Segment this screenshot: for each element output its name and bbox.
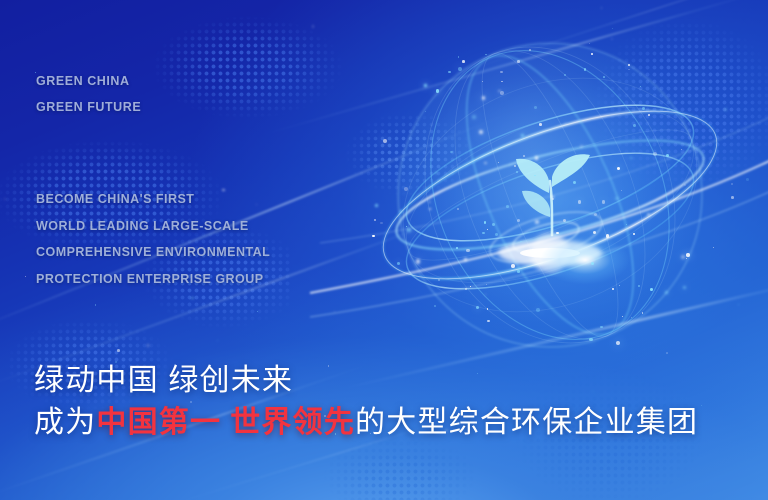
particle (612, 28, 613, 29)
particle (450, 88, 451, 89)
particle (482, 232, 485, 235)
particle (600, 326, 603, 329)
particle (621, 190, 622, 191)
particle (486, 284, 487, 285)
particle (628, 69, 630, 71)
particle (312, 25, 315, 28)
particle (630, 157, 632, 159)
particle (556, 232, 559, 235)
particle (476, 306, 479, 309)
particle (521, 134, 524, 137)
particle (117, 349, 120, 352)
particle (457, 208, 459, 210)
particle (244, 294, 245, 295)
particle (633, 233, 636, 236)
slogan-suffix: 的大型综合环保企业集团 (355, 406, 698, 439)
particle (466, 249, 470, 253)
particle (731, 183, 733, 185)
particle (479, 130, 483, 134)
particle (681, 149, 682, 150)
slogan-line: PROTECTION ENTERPRISE GROUP (36, 266, 270, 293)
particle (438, 279, 440, 281)
slogan-chinese: 绿动中国 绿创未来 成为中国第一世界领先的大型综合环保企业集团 (34, 362, 698, 442)
particle (665, 291, 668, 294)
slogan-line: BECOME CHINA'S FIRST (36, 186, 270, 213)
particle (589, 43, 590, 44)
particle (611, 38, 613, 40)
slogan-line: COMPREHENSIVE ENVIRONMENTAL (36, 239, 270, 266)
particle (666, 154, 669, 157)
particle (653, 152, 657, 156)
particle (487, 308, 489, 310)
particle (436, 89, 440, 93)
particle (701, 405, 702, 406)
dotted-world-map-texture (300, 440, 500, 500)
particle (434, 305, 436, 307)
particle (686, 253, 690, 257)
particle (648, 114, 650, 116)
particle (523, 155, 525, 157)
particle (622, 316, 623, 317)
particle (724, 108, 727, 111)
particle (615, 197, 618, 200)
particle (640, 86, 641, 87)
particle (397, 262, 400, 265)
particle (584, 68, 587, 71)
particle (517, 219, 520, 222)
particle (495, 233, 498, 236)
particle (602, 200, 606, 204)
particle (482, 96, 486, 100)
particle (4, 198, 6, 200)
dotted-world-map-texture (330, 100, 510, 220)
particle (589, 338, 593, 342)
light-streak (439, 0, 768, 80)
particle (551, 196, 554, 199)
particle (487, 229, 488, 230)
particle (25, 276, 26, 277)
globe-ambient-glow (330, 10, 768, 390)
particle (593, 231, 596, 234)
particle (472, 115, 475, 118)
particle (400, 210, 403, 213)
particle (631, 317, 633, 319)
particle (642, 107, 645, 110)
particle (731, 196, 734, 199)
particle (681, 255, 685, 259)
particle (485, 294, 486, 295)
slogan-english-top: GREEN CHINA GREEN FUTURE (36, 68, 141, 120)
particle (612, 288, 615, 291)
particle (552, 198, 554, 200)
particle (424, 84, 427, 87)
particle (404, 187, 408, 191)
particle (485, 54, 486, 55)
slogan-line: WORLD LEADING LARGE-SCALE (36, 213, 270, 240)
particle (383, 139, 387, 143)
particle (534, 106, 537, 109)
particle (416, 259, 420, 263)
light-streak (251, 0, 768, 139)
slogan-chinese-line2: 成为中国第一世界领先的大型综合环保企业集团 (34, 404, 698, 442)
particle (603, 76, 605, 78)
particle (448, 71, 450, 73)
particle (591, 53, 593, 55)
particle (462, 60, 465, 63)
particle (684, 184, 686, 186)
particle (501, 81, 502, 82)
particle (470, 286, 471, 287)
particle (713, 247, 714, 248)
particle (578, 200, 582, 204)
particle (506, 205, 509, 208)
particle (563, 219, 566, 222)
particle (429, 208, 431, 210)
particle (425, 235, 426, 236)
particle (257, 311, 258, 312)
particle (500, 91, 504, 95)
particle (498, 90, 500, 92)
particle (425, 111, 426, 112)
particle (458, 67, 462, 71)
sprout-seedling-icon (516, 154, 590, 235)
particle (591, 262, 594, 265)
slogan-line: GREEN FUTURE (36, 94, 141, 120)
particle (191, 297, 193, 299)
particle (580, 145, 583, 148)
particle (520, 241, 522, 243)
particle (535, 156, 538, 159)
particle (626, 224, 627, 225)
particle (517, 60, 520, 63)
particle (464, 258, 467, 261)
particle (465, 288, 467, 290)
orbital-ring (363, 12, 736, 377)
particle (650, 288, 653, 291)
particle (683, 286, 686, 289)
slogan-line: GREEN CHINA (36, 68, 141, 94)
particle (539, 123, 542, 126)
particle (435, 172, 438, 175)
particle (666, 352, 668, 354)
particle (647, 213, 650, 216)
wireframe-globe-icon (350, 25, 750, 365)
particle (375, 204, 378, 207)
particle (484, 162, 486, 164)
particle (500, 71, 503, 74)
particle (628, 64, 629, 65)
particle (482, 81, 483, 82)
dotted-world-map-texture (140, 0, 380, 150)
particle (492, 223, 495, 226)
particle (573, 181, 576, 184)
particle (516, 171, 518, 173)
particle (619, 285, 620, 286)
slogan-chinese-line1: 绿动中国 绿创未来 (34, 362, 698, 400)
particle (458, 56, 459, 57)
particle (147, 344, 149, 346)
slogan-english-body: BECOME CHINA'S FIRST WORLD LEADING LARGE… (36, 186, 270, 292)
particle (498, 162, 499, 163)
particle (616, 341, 620, 345)
slogan-highlight-world-leading: 世界领先 (230, 406, 355, 439)
particle (534, 175, 536, 177)
particle (535, 220, 539, 224)
particle (450, 151, 452, 153)
particle (594, 213, 597, 216)
particle (407, 228, 411, 232)
particle (334, 311, 336, 313)
particle (514, 165, 516, 167)
particle (511, 264, 515, 268)
particle (529, 49, 531, 51)
particle (487, 320, 490, 323)
particle (517, 270, 520, 273)
particle (95, 304, 97, 306)
slogan-highlight-china-first: 中国第一 (96, 406, 221, 439)
dotted-world-map-texture (560, 0, 768, 190)
hero-banner: GREEN CHINA GREEN FUTURE BECOME CHINA'S … (0, 0, 768, 500)
particle (372, 235, 375, 238)
particle (217, 340, 218, 341)
particle (686, 258, 687, 259)
particle (601, 7, 602, 8)
particle (429, 201, 431, 203)
particle (565, 123, 566, 124)
particle (564, 74, 566, 76)
particle (456, 247, 458, 249)
particle (617, 167, 620, 170)
particle (642, 312, 643, 313)
particle (406, 226, 407, 227)
particle (738, 304, 739, 305)
particle (380, 222, 383, 225)
particle (536, 308, 540, 312)
particle (633, 124, 636, 127)
particle (606, 234, 609, 237)
particle (746, 178, 749, 181)
particle (374, 219, 376, 221)
slogan-prefix: 成为 (34, 406, 96, 439)
particle (638, 285, 640, 287)
particle (484, 221, 486, 223)
globe-core-glow (505, 200, 665, 320)
